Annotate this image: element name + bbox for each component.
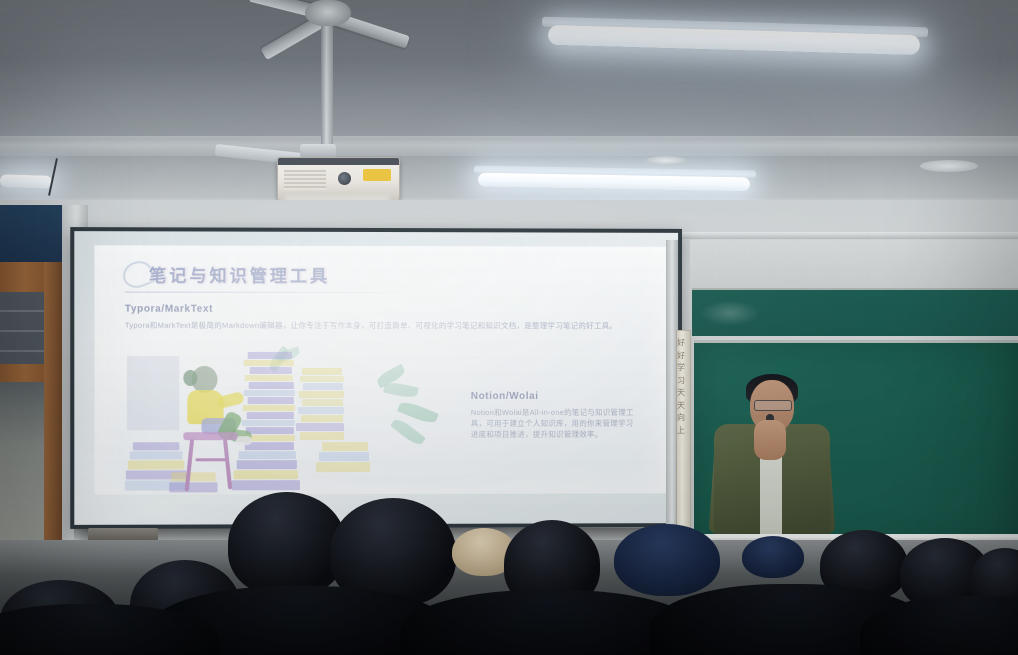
slide-section-body: Typora和MarkText是极简的Markdown编辑器，让你专注于写作本身… [125,320,630,332]
door-window [0,292,48,364]
audience-head [614,524,720,596]
slide-illustration [125,346,456,495]
ceiling-fan-hub [305,0,351,26]
presenter [706,374,838,540]
slide-section-heading: Notion/Wolai [471,391,539,402]
ceiling-light-small [920,160,978,172]
projector-top-shade [278,158,399,165]
fluorescent-tube-light [0,174,52,189]
projection-screen: 笔记与知识管理工具 Typora/MarkText Typora和MarkTex… [70,227,682,529]
presenter-hands [754,420,786,460]
projector-mount [300,144,336,158]
slide-title: 笔记与知识管理工具 [149,261,330,286]
projector-vent [284,170,326,190]
presenter-glasses [754,400,792,411]
wall-above-chalkboard [690,240,1018,288]
classroom-scene: 笔记与知识管理工具 Typora/MarkText Typora和MarkTex… [0,0,1018,655]
wall-slogan-strip: 好好学习天天向上 [676,330,691,535]
slide: 笔记与知识管理工具 Typora/MarkText Typora和MarkTex… [95,245,667,494]
ceiling-light-small [646,156,686,165]
ceiling-beam [0,138,1018,156]
audience-head [228,492,346,596]
chalk-dust [700,300,760,326]
projector-sticker [363,169,391,181]
projector-lens [338,172,351,185]
slide-section-body: Notion和Wolai是All-in-one的笔记与知识管理工具，可用于建立个… [471,407,640,440]
audience-head [742,536,804,578]
slide-section-heading: Typora/MarkText [125,304,213,315]
projection-screen-surface: 笔记与知识管理工具 Typora/MarkText Typora和MarkTex… [74,231,678,525]
projector [277,157,400,201]
title-underline [125,292,426,294]
